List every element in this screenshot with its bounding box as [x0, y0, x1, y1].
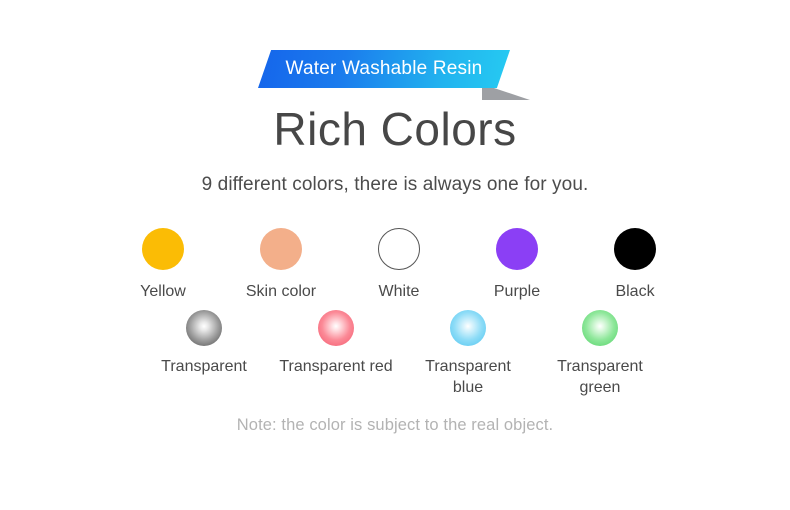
- swatch-label: Transparent blue: [409, 357, 527, 398]
- page-title: Rich Colors: [273, 106, 516, 152]
- banner-label: Water Washable Resin: [286, 58, 483, 80]
- banner-ribbon: Water Washable Resin: [258, 50, 510, 88]
- color-dot-transparent[interactable]: [186, 310, 222, 346]
- swatch-black[interactable]: Black: [576, 228, 694, 302]
- swatch-label: Black: [615, 282, 654, 302]
- transparent-color-row: Transparent Transparent red Transparent …: [0, 310, 790, 398]
- swatch-purple[interactable]: Purple: [458, 228, 576, 302]
- color-dot-white[interactable]: [378, 228, 420, 270]
- page-subtitle: 9 different colors, there is always one …: [202, 174, 589, 196]
- swatch-transparent-blue[interactable]: Transparent blue: [402, 310, 534, 398]
- color-dot-transparent-green[interactable]: [582, 310, 618, 346]
- color-dot-yellow[interactable]: [142, 228, 184, 270]
- banner: Water Washable Resin: [250, 50, 540, 92]
- color-dot-transparent-blue[interactable]: [450, 310, 486, 346]
- swatch-label: Transparent: [161, 357, 247, 377]
- swatch-white[interactable]: White: [340, 228, 458, 302]
- swatch-label: Skin color: [246, 282, 316, 302]
- swatch-skin-color[interactable]: Skin color: [222, 228, 340, 302]
- swatch-label: White: [379, 282, 420, 302]
- swatch-transparent[interactable]: Transparent: [138, 310, 270, 398]
- swatch-label: Transparent green: [541, 357, 659, 398]
- swatch-label: Transparent red: [279, 357, 392, 377]
- color-dot-skin-color[interactable]: [260, 228, 302, 270]
- swatch-label: Yellow: [140, 282, 186, 302]
- footer-note: Note: the color is subject to the real o…: [237, 416, 553, 435]
- rich-colors-page: Water Washable Resin Rich Colors 9 diffe…: [0, 0, 790, 510]
- swatch-transparent-green[interactable]: Transparent green: [534, 310, 666, 398]
- swatch-label: Purple: [494, 282, 540, 302]
- color-dot-transparent-red[interactable]: [318, 310, 354, 346]
- color-dot-black[interactable]: [614, 228, 656, 270]
- color-dot-purple[interactable]: [496, 228, 538, 270]
- swatch-transparent-red[interactable]: Transparent red: [270, 310, 402, 398]
- swatch-yellow[interactable]: Yellow: [104, 228, 222, 302]
- solid-color-row: Yellow Skin color White Purple Black: [0, 228, 790, 302]
